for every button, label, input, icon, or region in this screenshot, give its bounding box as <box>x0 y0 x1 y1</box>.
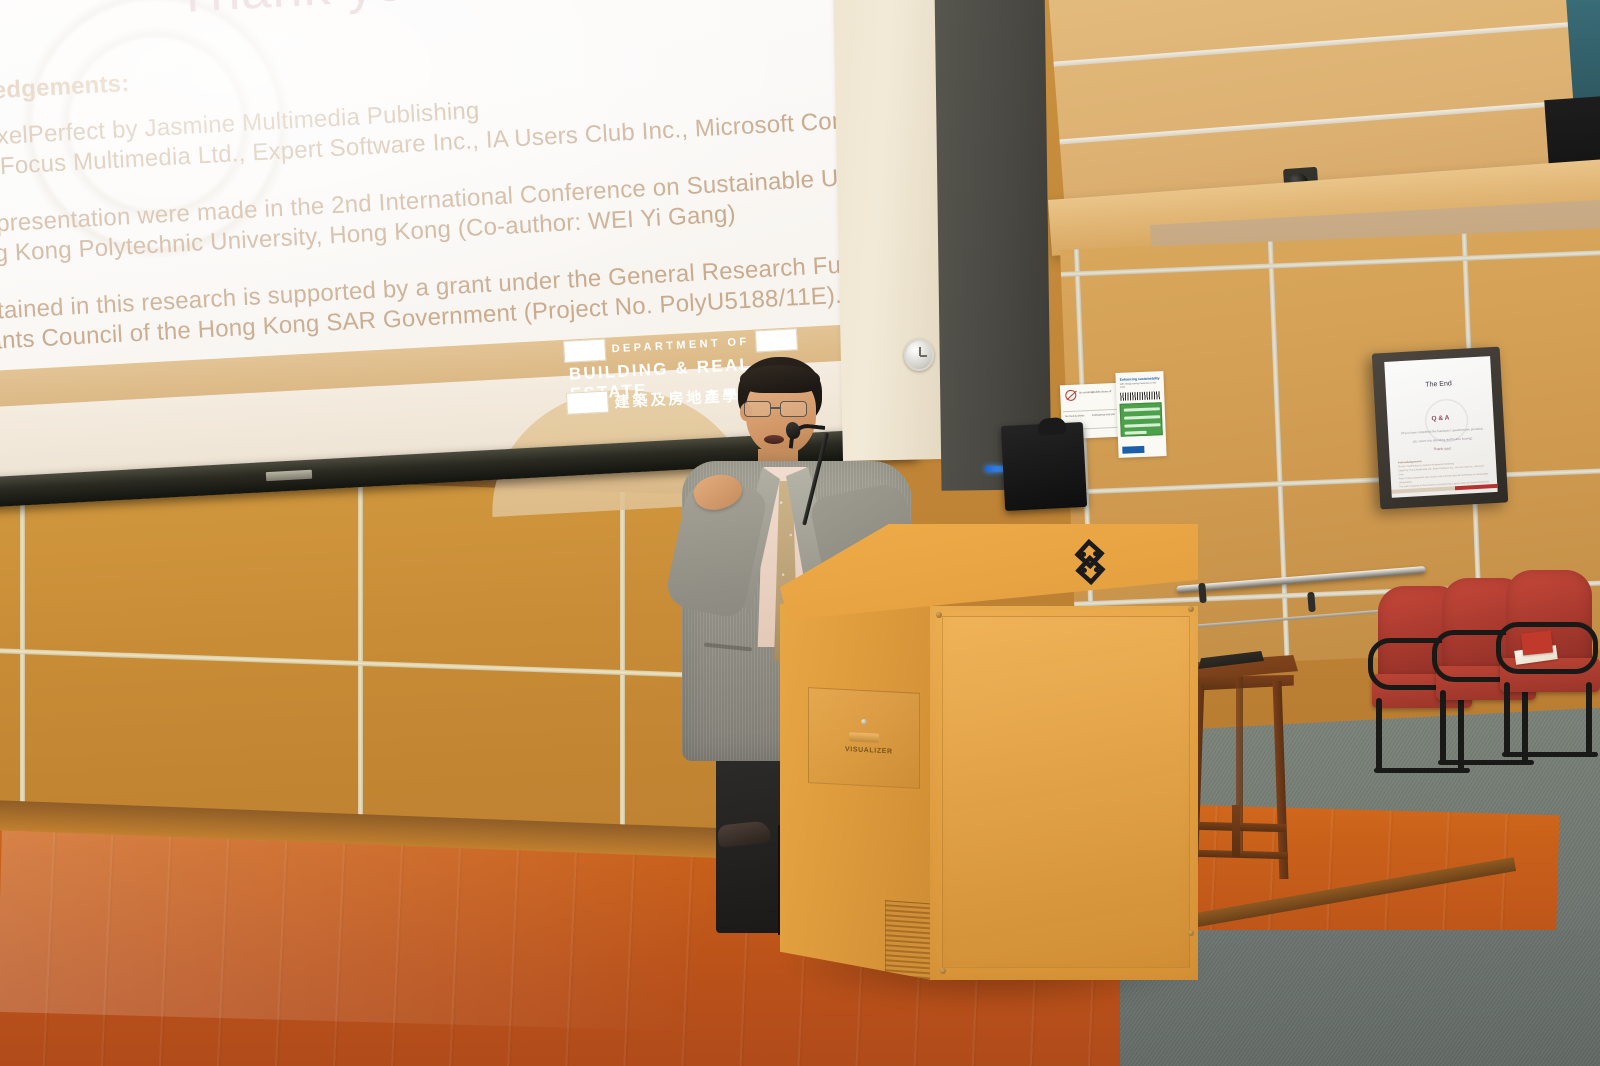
notice-line-4: Emergency exit info <box>1092 413 1118 418</box>
polyu-knot-logo <box>1064 536 1117 589</box>
poster-text-bars <box>1120 391 1160 401</box>
dark-wall-pillar <box>934 0 1051 491</box>
visualizer-drawer[interactable]: VISUALIZER <box>808 687 920 789</box>
no-smoking-icon <box>1065 390 1076 401</box>
presenter-glasses-icon <box>744 401 820 417</box>
logo-department-of: DEPARTMENT OF <box>611 336 750 355</box>
poster-title: Enhancing sustainability <box>1120 376 1160 382</box>
poster-subtitle: with energy saving measures in this room <box>1120 382 1160 389</box>
lectern-podium[interactable]: VISUALIZER <box>780 500 1210 990</box>
visualizer-label: VISUALIZER <box>845 746 893 755</box>
drawer-lock-icon <box>861 719 867 725</box>
left-wall-panelling <box>0 470 730 856</box>
drawer-handle[interactable] <box>849 732 879 743</box>
presenter-hair-front <box>740 365 820 393</box>
panel-screw <box>936 612 942 618</box>
monitor-top-camera-icon <box>1037 417 1066 436</box>
tv-screen: The End Q & A (If you have completed the… <box>1384 356 1497 498</box>
wall-flat-tv: The End Q & A (If you have completed the… <box>1372 347 1509 510</box>
podium-side-panel: VISUALIZER <box>780 576 932 980</box>
podium-front-panel <box>930 606 1198 980</box>
red-item-on-chair <box>1521 630 1553 655</box>
poster-green-box <box>1120 402 1163 437</box>
notice-line-3: No food & drinks <box>1065 414 1089 419</box>
slide-thank-you: Thank you! <box>174 0 454 25</box>
presenter-mouth <box>764 435 784 444</box>
tv-slide-title: The End <box>1385 378 1491 391</box>
handrail-bracket <box>1307 592 1316 612</box>
panel-screw <box>1188 606 1194 612</box>
auditorium-chair[interactable] <box>1498 570 1600 770</box>
notice-line-2: Mobile phone off <box>1092 390 1117 395</box>
panel-screw <box>1188 930 1194 936</box>
panel-screw <box>940 968 946 974</box>
lecture-hall-scene: No smoking Mobile phone off No food & dr… <box>0 0 1600 1066</box>
sustainability-poster: Enhancing sustainability with energy sav… <box>1115 371 1166 458</box>
poster-footer-logo <box>1122 446 1144 454</box>
screen-brand-badge <box>266 470 312 481</box>
slide-ack-heading: Acknowledgements: <box>0 70 130 111</box>
